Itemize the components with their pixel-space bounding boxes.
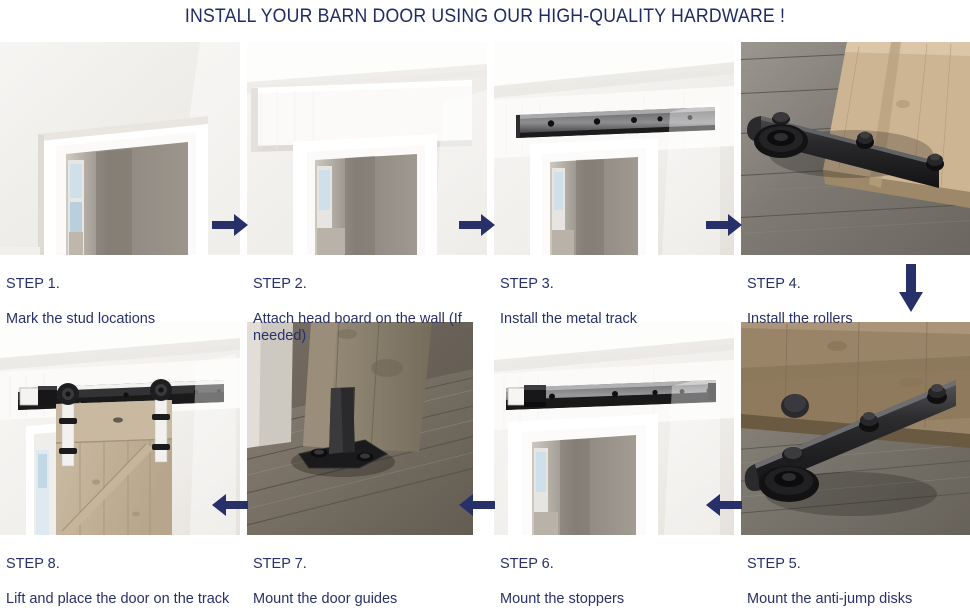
step-number-5: STEP 5. [747,556,969,574]
step-text-6: Mount the stoppers [500,591,624,607]
doorway-track-illustration [494,42,734,255]
step-number-7: STEP 7. [253,556,478,574]
step-image-6 [494,322,734,535]
step-text-1: Mark the stud locations [6,311,155,327]
arrow-step4-step5 [896,262,926,314]
roller-on-plank-illustration [741,42,970,255]
step-image-5 [741,322,970,535]
step-image-7 [247,322,487,535]
antijump-illustration [741,322,970,535]
step-number-2: STEP 2. [253,276,478,294]
step-image-8 [0,322,240,535]
step-number-8: STEP 8. [6,556,231,574]
step-number-1: STEP 1. [6,276,231,294]
doorway-stoppers-illustration [494,322,734,535]
step-text-3: Install the metal track [500,311,637,327]
step-image-3 [494,42,734,255]
step-caption-8: STEP 8. Lift and place the door on the t… [6,538,231,608]
page-title: INSTALL YOUR BARN DOOR USING OUR HIGH-QU… [34,6,936,28]
arrow-step5-step6 [704,489,744,521]
step-caption-2: STEP 2. Attach head board on the wall (I… [253,258,478,346]
step-caption-6: STEP 6. Mount the stoppers [500,538,725,608]
step-caption-5: STEP 5. Mount the anti-jump disks [747,538,969,608]
step-image-2 [247,42,487,255]
step-text-4: Install the rollers [747,311,853,327]
anti-jump-disk-graphic [781,394,809,418]
doorway-plain-illustration [0,42,240,255]
step-caption-3: STEP 3. Install the metal track [500,258,725,328]
step-image-4 [741,42,970,255]
step-number-6: STEP 6. [500,556,725,574]
arrow-step7-step8 [210,489,250,521]
infographic-page: INSTALL YOUR BARN DOOR USING OUR HIGH-QU… [0,0,970,600]
finished-door-illustration [0,322,240,535]
doorway-headboard-illustration [247,42,487,255]
step-text-2: Attach head board on the wall (If needed… [253,311,462,345]
step-number-4: STEP 4. [747,276,897,294]
arrow-step2-step3 [457,209,497,241]
step-image-1 [0,42,240,255]
arrow-step6-step7 [457,489,497,521]
floor-guide-illustration [247,322,487,535]
step-caption-4: STEP 4. Install the rollers [747,258,897,328]
step-number-3: STEP 3. [500,276,725,294]
arrow-step3-step4 [704,209,744,241]
step-text-5: Mount the anti-jump disks [747,591,912,607]
step-caption-1: STEP 1. Mark the stud locations [6,258,231,328]
arrow-step1-step2 [210,209,250,241]
step-text-7: Mount the door guides [253,591,397,607]
step-caption-7: STEP 7. Mount the door guides [253,538,478,608]
step-text-8: Lift and place the door on the track [6,591,229,607]
